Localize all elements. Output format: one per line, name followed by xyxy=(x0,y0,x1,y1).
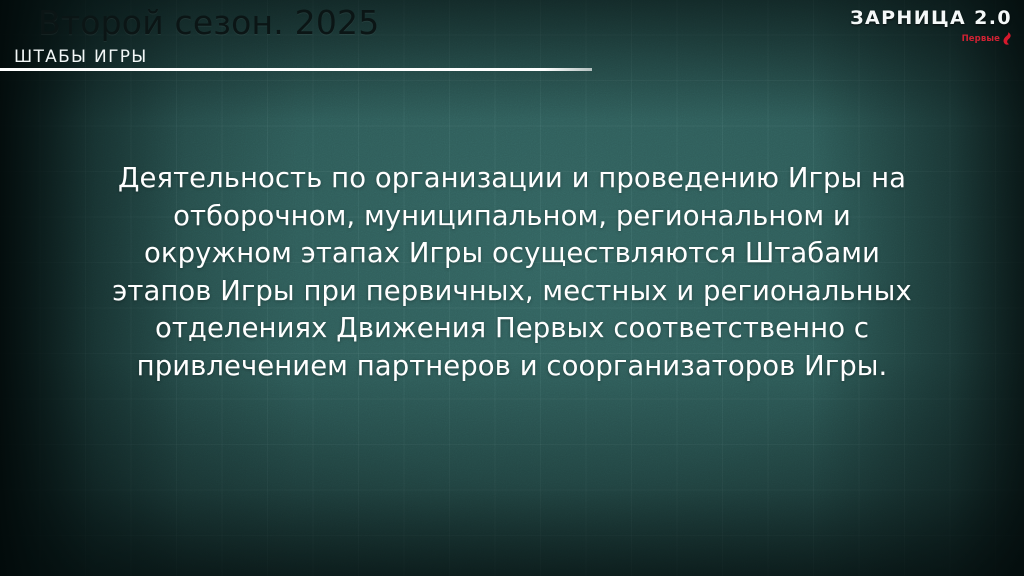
slide-body: Деятельность по организации и проведению… xyxy=(0,160,1024,385)
slide-section-label: ШТАБЫ ИГРЫ xyxy=(14,46,148,68)
presentation-slide: Второй сезон. 2025 ШТАБЫ ИГРЫ ЗАРНИЦА 2.… xyxy=(0,0,1024,576)
body-paragraph: Деятельность по организации и проведению… xyxy=(104,160,920,385)
brand-logo: ЗАРНИЦА 2.0 Первые xyxy=(850,8,1012,45)
header-divider xyxy=(0,68,592,71)
brand-sublogo-label: Первые xyxy=(962,34,1000,44)
flame-icon xyxy=(1002,32,1011,45)
brand-name-label: ЗАРНИЦА 2.0 xyxy=(850,8,1012,28)
page-title: Второй сезон. 2025 xyxy=(38,2,379,44)
brand-sublogo: Первые xyxy=(850,32,1012,45)
